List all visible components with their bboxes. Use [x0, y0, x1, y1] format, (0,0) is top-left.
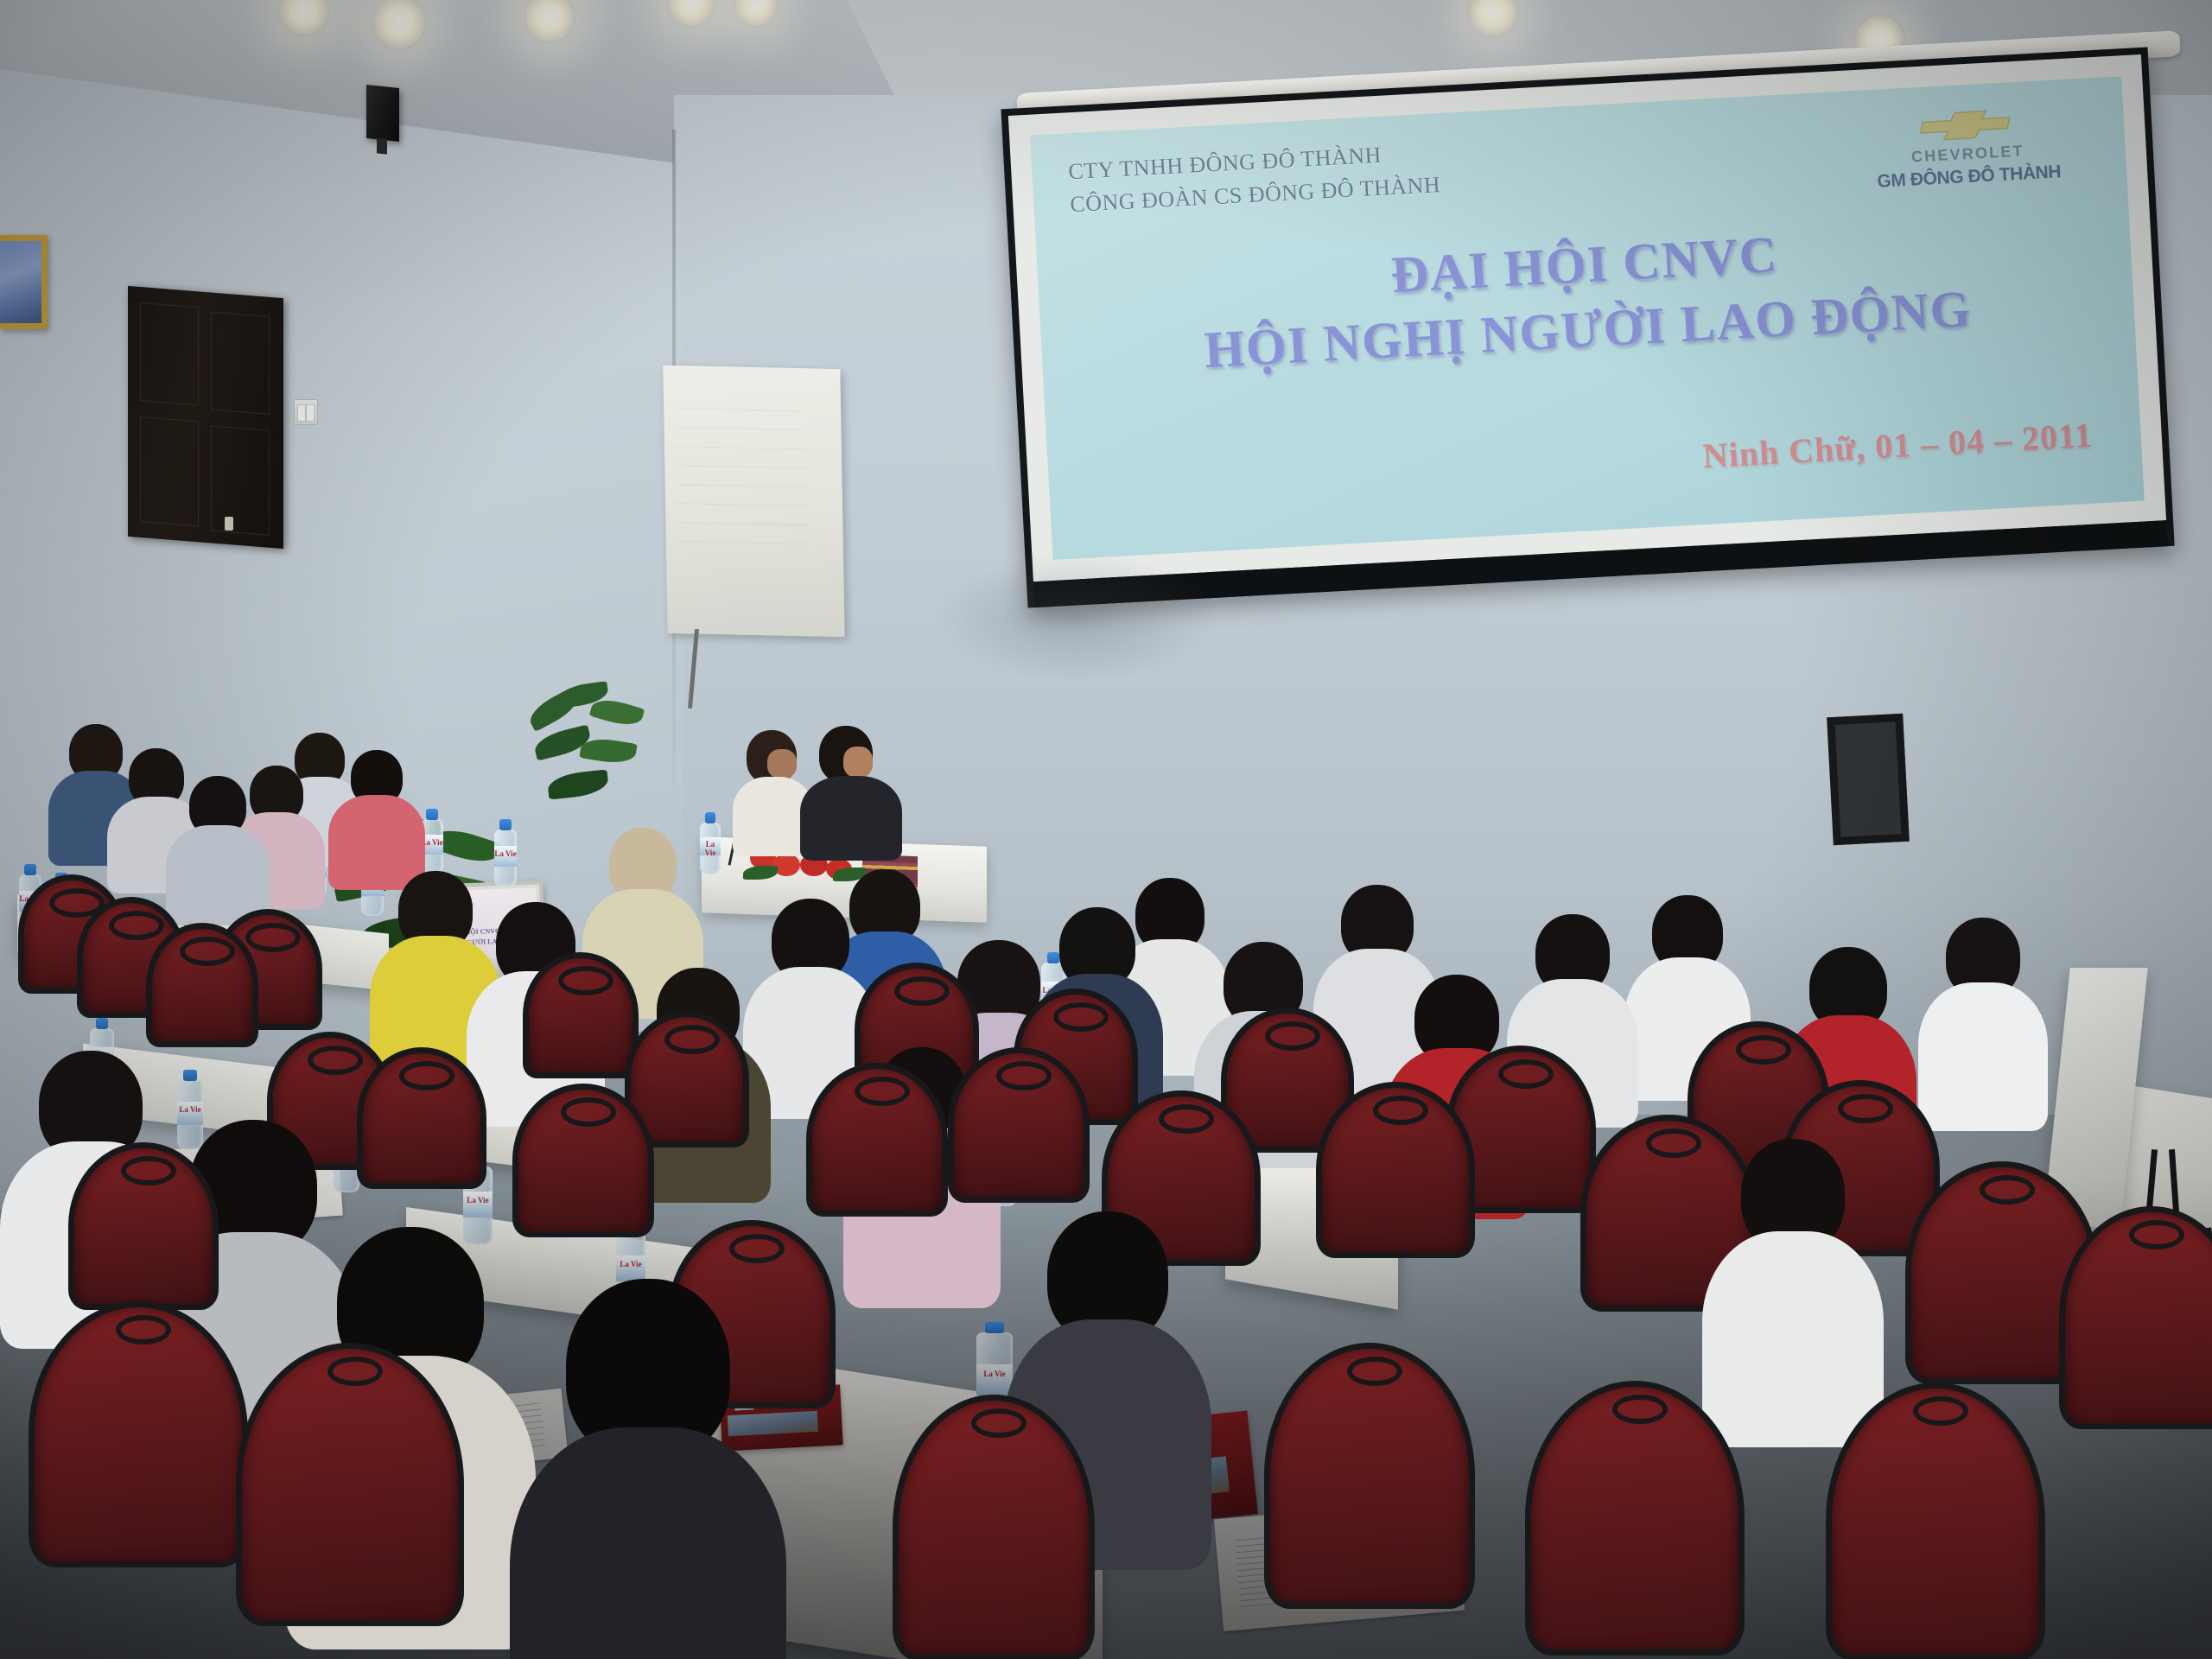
chair-back-handle [855, 1077, 910, 1106]
chair-back-handle [109, 911, 164, 940]
chair-back-handle [996, 1061, 1052, 1090]
screen-wall-shadow [933, 553, 1218, 683]
banquet-chair[interactable] [529, 957, 632, 1077]
chair-back-handle [1980, 1175, 2035, 1205]
banquet-chair[interactable] [2065, 1211, 2212, 1427]
presidium-person-right [804, 726, 899, 855]
projection-screen: CTY TNHH ĐÔNG ĐÔ THÀNH CÔNG ĐOÀN CS ĐÔNG… [989, 52, 2208, 622]
slide-title: ĐẠI HỘI CNVC HỘI NGHỊ NGƯỜI LAO ĐỘNG [1037, 206, 2135, 389]
attendee [510, 1279, 786, 1659]
chair-back-handle [308, 1046, 363, 1075]
chair-back-handle [1347, 1357, 1402, 1386]
blank-flipchart-easel [663, 365, 844, 637]
chair-back-handle [1646, 1128, 1701, 1158]
chair-back-handle [1913, 1396, 1968, 1426]
chair-back-handle [1373, 1096, 1428, 1125]
chair-back-handle [327, 1357, 383, 1386]
attendee [1702, 1139, 1884, 1467]
dark-wooden-double-door[interactable] [128, 286, 283, 549]
slide-date: Ninh Chữ, 01 – 04 – 2011 [1702, 415, 2094, 476]
door-knob[interactable] [225, 517, 233, 531]
chair-back-handle [1265, 1021, 1320, 1051]
chair-back-handle [399, 1061, 454, 1090]
banquet-chair[interactable] [1832, 1388, 2039, 1659]
chair-back-handle [558, 966, 613, 995]
attendee-torso [1918, 982, 2048, 1131]
chevrolet-bowtie-icon [1918, 105, 2013, 144]
chair-back-handle [121, 1156, 176, 1185]
slide-brand-block: CHEVROLET GM ĐÔNG ĐÔ THÀNH [1873, 102, 2062, 192]
presentation-slide: CTY TNHH ĐÔNG ĐÔ THÀNH CÔNG ĐOÀN CS ĐÔNG… [1030, 76, 2145, 560]
speaker-bracket [377, 137, 387, 154]
chair-back-handle [1612, 1395, 1668, 1424]
framed-painting [0, 235, 48, 329]
attendee-torso [510, 1427, 786, 1659]
attendee [1918, 918, 2048, 1146]
chair-back-handle [1736, 1035, 1791, 1065]
chair-back-handle [894, 976, 950, 1006]
presidium-person-left [733, 730, 810, 851]
banquet-chair[interactable] [812, 1068, 942, 1215]
framed-picture-right [1827, 714, 1910, 845]
chair-back-handle [729, 1234, 785, 1263]
screen-surface: CTY TNHH ĐÔNG ĐÔ THÀNH CÔNG ĐOÀN CS ĐÔNG… [1008, 54, 2166, 582]
chair-back-handle [971, 1408, 1027, 1438]
conference-room-photo: CTY TNHH ĐÔNG ĐÔ THÀNH CÔNG ĐOÀN CS ĐÔNG… [0, 0, 2212, 1659]
potted-plant-left [518, 683, 657, 829]
chair-back-handle [116, 1315, 171, 1344]
banquet-chair[interactable] [1531, 1386, 1738, 1654]
chair-back-handle [1498, 1059, 1554, 1089]
banquet-chair[interactable] [518, 1089, 648, 1236]
light-switch-panel[interactable] [294, 399, 318, 425]
slide-organization: CTY TNHH ĐÔNG ĐÔ THÀNH CÔNG ĐOÀN CS ĐÔNG… [1067, 136, 1441, 222]
banquet-chair[interactable] [35, 1306, 242, 1566]
attendee-torso [1702, 1231, 1884, 1447]
chair-back-handle [664, 1025, 720, 1054]
chair-back-handle [180, 937, 235, 966]
banquet-chair[interactable] [363, 1052, 480, 1187]
chair-back-handle [245, 923, 301, 952]
banquet-chair[interactable] [242, 1348, 458, 1624]
chair-back-handle [1053, 1002, 1109, 1032]
chair-back-handle [561, 1097, 616, 1127]
banquet-chair[interactable] [74, 1147, 213, 1308]
wall-speaker-icon [366, 85, 399, 142]
banquet-chair[interactable] [1270, 1348, 1469, 1607]
banquet-chair[interactable] [152, 928, 252, 1046]
chair-back-handle [1159, 1104, 1214, 1134]
banquet-chair[interactable] [631, 1016, 743, 1146]
chair-back-handle [1838, 1094, 1893, 1123]
banquet-chair[interactable] [1322, 1087, 1469, 1256]
banquet-chair[interactable] [899, 1400, 1089, 1659]
banquet-chair[interactable] [954, 1052, 1084, 1201]
screen-frame: CTY TNHH ĐÔNG ĐÔ THÀNH CÔNG ĐOÀN CS ĐÔNG… [1001, 48, 2174, 608]
chair-back-handle [2129, 1220, 2184, 1249]
